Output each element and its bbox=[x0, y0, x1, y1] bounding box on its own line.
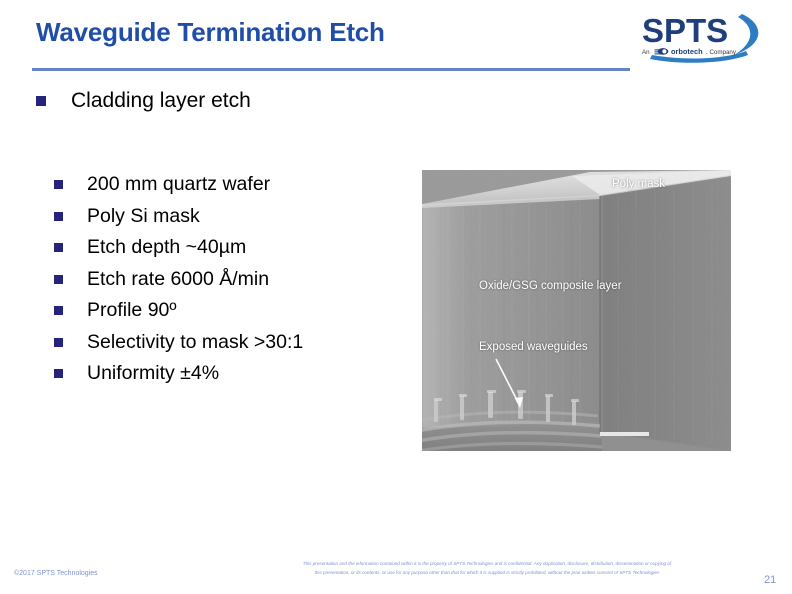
list-item: Profile 90º bbox=[54, 298, 404, 322]
list-item-label: 200 mm quartz wafer bbox=[87, 172, 270, 196]
page-number: 21 bbox=[764, 574, 776, 586]
bullet-square-icon bbox=[54, 338, 63, 347]
logo-tagline-brand: orbotech bbox=[671, 47, 703, 56]
list-item-label: Poly Si mask bbox=[87, 204, 200, 228]
list-item-label: Selectivity to mask >30:1 bbox=[87, 330, 303, 354]
list-item: Uniformity ±4% bbox=[54, 361, 404, 385]
list-item-label: Etch rate 6000 Å/min bbox=[87, 267, 269, 291]
list-item-label: Etch depth ~40µm bbox=[87, 235, 246, 259]
title-divider bbox=[32, 68, 630, 71]
page-title: Waveguide Termination Etch bbox=[36, 17, 385, 48]
figure-label-exposed-waveguides: Exposed waveguides bbox=[479, 341, 588, 353]
figure-label-poly-mask: Poly mask bbox=[612, 178, 665, 190]
lead-bullet-label: Cladding layer etch bbox=[71, 88, 251, 114]
bullet-square-icon bbox=[54, 306, 63, 315]
list-item-label: Uniformity ±4% bbox=[87, 361, 219, 385]
list-item: 200 mm quartz wafer bbox=[54, 172, 404, 196]
list-item: Etch rate 6000 Å/min bbox=[54, 267, 404, 291]
logo-tagline-suffix: . Company bbox=[706, 49, 737, 56]
list-item: Etch depth ~40µm bbox=[54, 235, 404, 259]
bullet-square-icon bbox=[54, 369, 63, 378]
list-item: Poly Si mask bbox=[54, 204, 404, 228]
footer-copyright: ©2017 SPTS Technologies bbox=[14, 570, 98, 577]
slide-canvas: Waveguide Termination Etch SPTS An orbot… bbox=[0, 0, 792, 594]
sub-bullet-list: 200 mm quartz wafer Poly Si mask Etch de… bbox=[54, 172, 404, 393]
scale-bar bbox=[600, 432, 649, 436]
bullet-square-icon bbox=[36, 96, 46, 106]
bullet-square-icon bbox=[54, 180, 63, 189]
bullet-square-icon bbox=[54, 243, 63, 252]
lead-bullet-item: Cladding layer etch bbox=[36, 88, 251, 114]
list-item: Selectivity to mask >30:1 bbox=[54, 330, 404, 354]
spts-logo: SPTS An orbotech . Company bbox=[634, 8, 774, 64]
sem-cross-section-micrograph: Poly mask Oxide/GSG composite layer Expo… bbox=[422, 170, 731, 451]
footer-disclaimer: This presentation and the information co… bbox=[222, 560, 752, 577]
logo-wordmark: SPTS bbox=[642, 12, 728, 49]
bullet-square-icon bbox=[54, 275, 63, 284]
footer-disclaimer-line-2: this presentation, or its contents, or u… bbox=[222, 569, 752, 578]
bullet-square-icon bbox=[54, 212, 63, 221]
footer-disclaimer-line-1: This presentation and the information co… bbox=[222, 560, 752, 569]
logo-tagline-prefix: An bbox=[642, 49, 650, 56]
figure-label-oxide-layer: Oxide/GSG composite layer bbox=[479, 280, 622, 292]
list-item-label: Profile 90º bbox=[87, 298, 177, 322]
